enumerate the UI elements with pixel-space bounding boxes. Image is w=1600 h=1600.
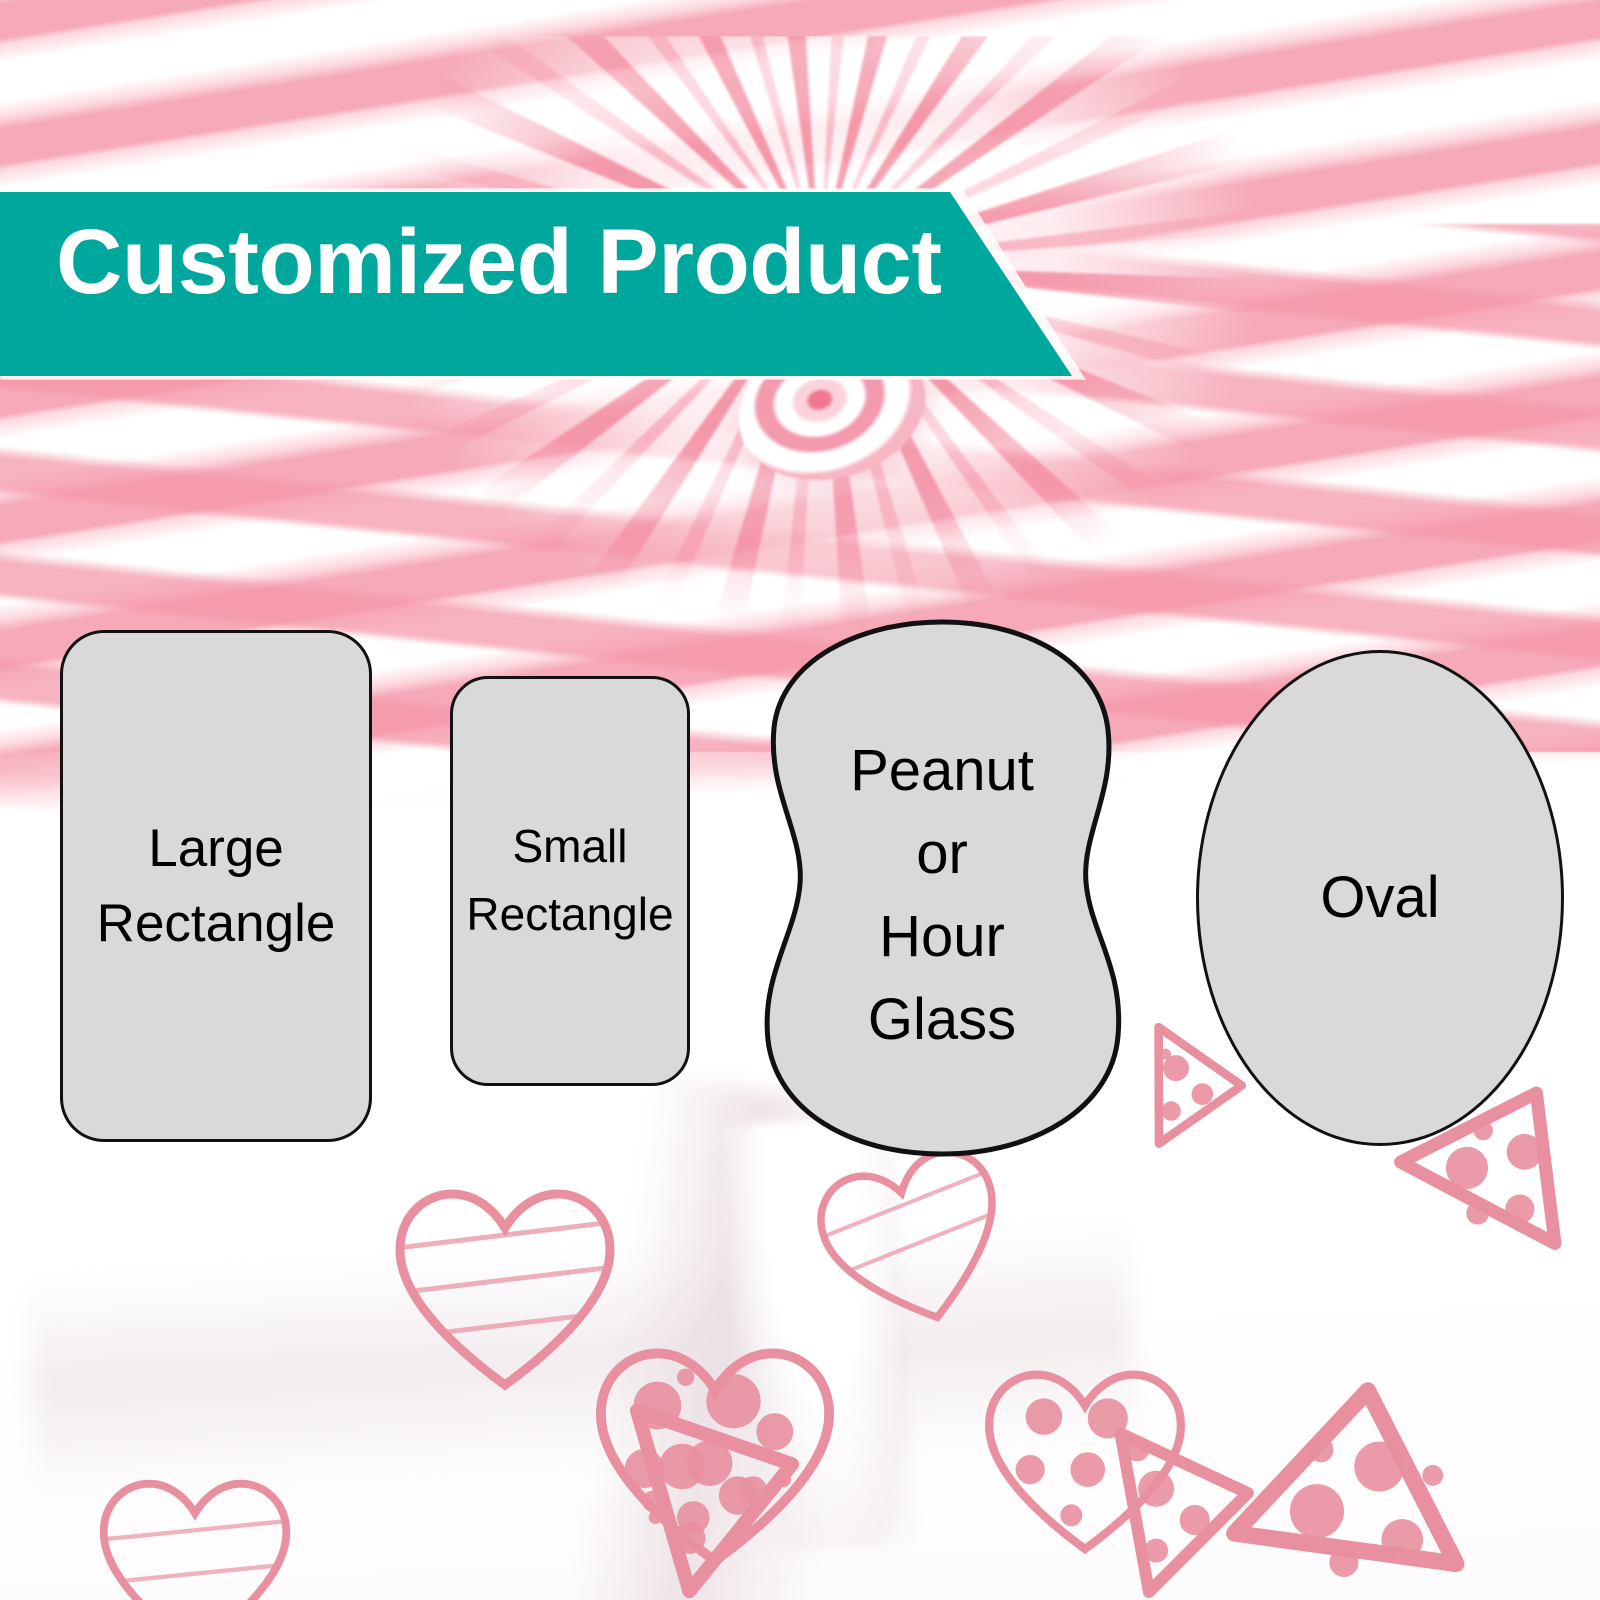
heart-motif-icon bbox=[95, 1470, 295, 1600]
shape-small-rectangle-label: Small Rectangle bbox=[466, 813, 673, 948]
shape-large-rectangle-label: Large Rectangle bbox=[97, 811, 336, 962]
pizza-slice-motif-icon bbox=[586, 1386, 823, 1600]
banner-title: Customized Product bbox=[56, 216, 941, 308]
shape-peanut-hourglass-label: Peanut or Hour Glass bbox=[752, 730, 1132, 1062]
heart-motif-icon bbox=[390, 1180, 620, 1395]
shape-small-rectangle[interactable]: Small Rectangle bbox=[450, 676, 690, 1086]
shape-peanut-hourglass[interactable]: Peanut or Hour Glass bbox=[752, 612, 1132, 1164]
shape-oval-label: Oval bbox=[1320, 860, 1439, 935]
customized-product-banner: Customized Product bbox=[0, 188, 1095, 380]
shape-large-rectangle[interactable]: Large Rectangle bbox=[60, 630, 372, 1142]
product-image: Customized Product Large Rectangle Small… bbox=[0, 0, 1600, 1600]
shape-oval[interactable]: Oval bbox=[1196, 650, 1564, 1146]
